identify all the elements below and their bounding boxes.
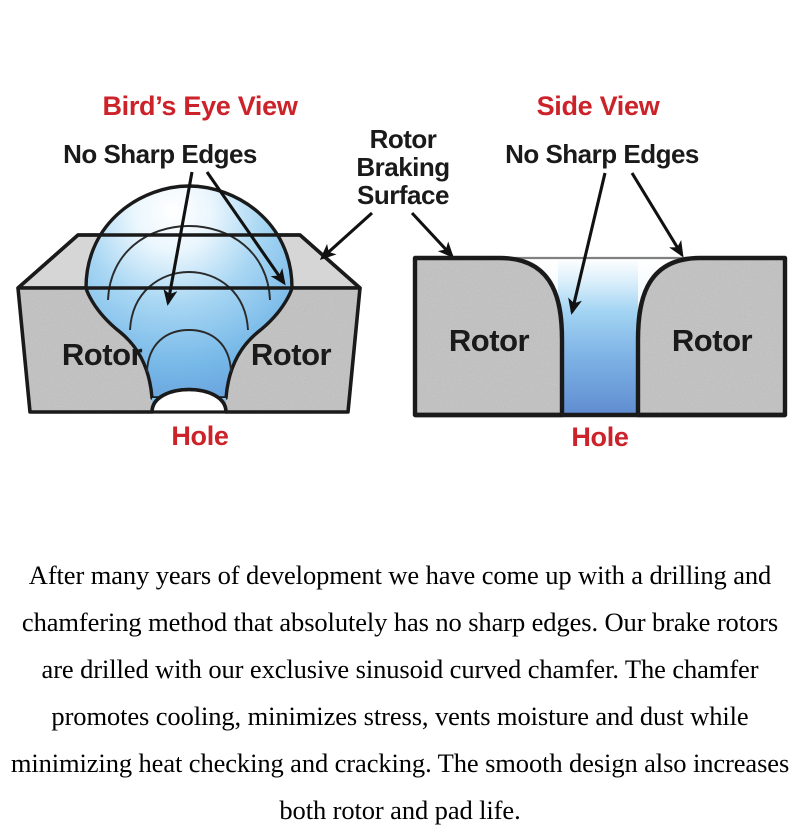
birds-eye-rotor-label-right: Rotor bbox=[251, 337, 332, 372]
diagram-page: Rotor Rotor Hole Bird’s Eye View No Shar… bbox=[0, 0, 800, 800]
side-view-no-sharp-edges-label: No Sharp Edges bbox=[505, 139, 699, 169]
side-view-rotor-label-left: Rotor bbox=[449, 323, 530, 358]
side-view-arrow-right-chamfer bbox=[632, 173, 682, 255]
birds-eye-view-figure: Rotor Rotor Hole Bird’s Eye View No Shar… bbox=[18, 91, 360, 451]
side-view-hole-bore bbox=[558, 258, 638, 415]
side-view-hole-label: Hole bbox=[571, 422, 629, 452]
rotor-braking-surface-arrow-left bbox=[322, 213, 372, 258]
rotor-braking-surface-arrow-right bbox=[412, 213, 452, 256]
rotor-braking-surface-line-3: Surface bbox=[357, 180, 449, 210]
birds-eye-hole-label: Hole bbox=[171, 421, 229, 451]
rotor-braking-surface-line-1: Rotor bbox=[370, 124, 437, 154]
side-view-rotor-label-right: Rotor bbox=[672, 323, 753, 358]
birds-eye-rotor-label-left: Rotor bbox=[62, 337, 143, 372]
rotor-braking-surface-line-2: Braking bbox=[356, 152, 449, 182]
description-paragraph: After many years of development we have … bbox=[10, 552, 790, 834]
side-view-figure: Rotor Rotor Hole Side View No Sharp Edge… bbox=[415, 91, 785, 452]
birds-eye-no-sharp-edges-label: No Sharp Edges bbox=[63, 139, 257, 169]
side-view-title: Side View bbox=[537, 91, 661, 121]
brake-rotor-chamfer-diagram: Rotor Rotor Hole Bird’s Eye View No Shar… bbox=[0, 0, 800, 500]
rotor-braking-surface-callout: Rotor Braking Surface bbox=[322, 124, 452, 258]
birds-eye-view-title: Bird’s Eye View bbox=[102, 91, 298, 121]
